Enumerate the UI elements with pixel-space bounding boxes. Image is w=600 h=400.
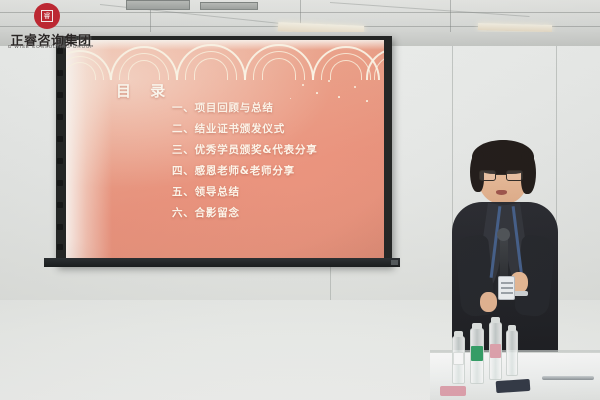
bottle-label [453,352,464,365]
projection-screen-rail [44,258,400,267]
bottle-cap [472,323,482,329]
bottle-cap [491,317,500,323]
bottle-cap [454,331,463,337]
microphone-head [497,228,510,241]
presentation-slide: 目 录 一、项目回顾与总结 二、结业证书颁发仪式 三、优秀学员颁奖&代表分享 四… [66,40,384,260]
hair-right [521,152,536,194]
slide-title: 目 录 [116,80,172,101]
water-bottle [506,330,518,376]
dark-device [496,379,531,393]
bottle-label [490,344,501,358]
toc-item: 六、合影留念 [172,203,318,224]
rail-end-cap [391,260,398,265]
ceiling-vent [200,2,258,10]
ceiling-light-fixture [478,23,552,32]
glasses-left-lens [479,170,496,181]
toc-item: 二、结业证书颁发仪式 [172,119,318,140]
id-badge [498,276,515,300]
mouth [496,190,507,195]
toc-item: 四、感恩老师&老师分享 [172,161,318,182]
glasses-bridge [496,174,506,175]
bottle-label [471,346,483,361]
ceiling-vent [126,0,190,10]
screen-grommets [56,44,64,258]
metal-pen [542,376,594,380]
hand-left [480,292,497,312]
emblem-glyph: 睿 [41,10,53,22]
meeting-room-photo: 目 录 一、项目回顾与总结 二、结业证书颁发仪式 三、优秀学员颁奖&代表分享 四… [0,0,600,400]
toc-item: 三、优秀学员颁奖&代表分享 [172,140,318,161]
corporate-watermark: 睿 正睿咨询集团 G WISE CONSULTING GROUP [4,2,98,50]
bottle-cap [508,325,516,331]
dark-device [440,386,466,396]
toc-item: 一、项目回顾与总结 [172,98,318,119]
decorative-arch-pattern [66,40,384,80]
slide-toc-list: 一、项目回顾与总结 二、结业证书颁发仪式 三、优秀学员颁奖&代表分享 四、感恩老… [172,98,318,224]
brand-emblem-icon: 睿 [34,3,60,29]
watermark-english-name: G WISE CONSULTING GROUP [4,44,98,49]
glasses-right-lens [506,170,523,181]
toc-item: 五、领导总结 [172,182,318,203]
